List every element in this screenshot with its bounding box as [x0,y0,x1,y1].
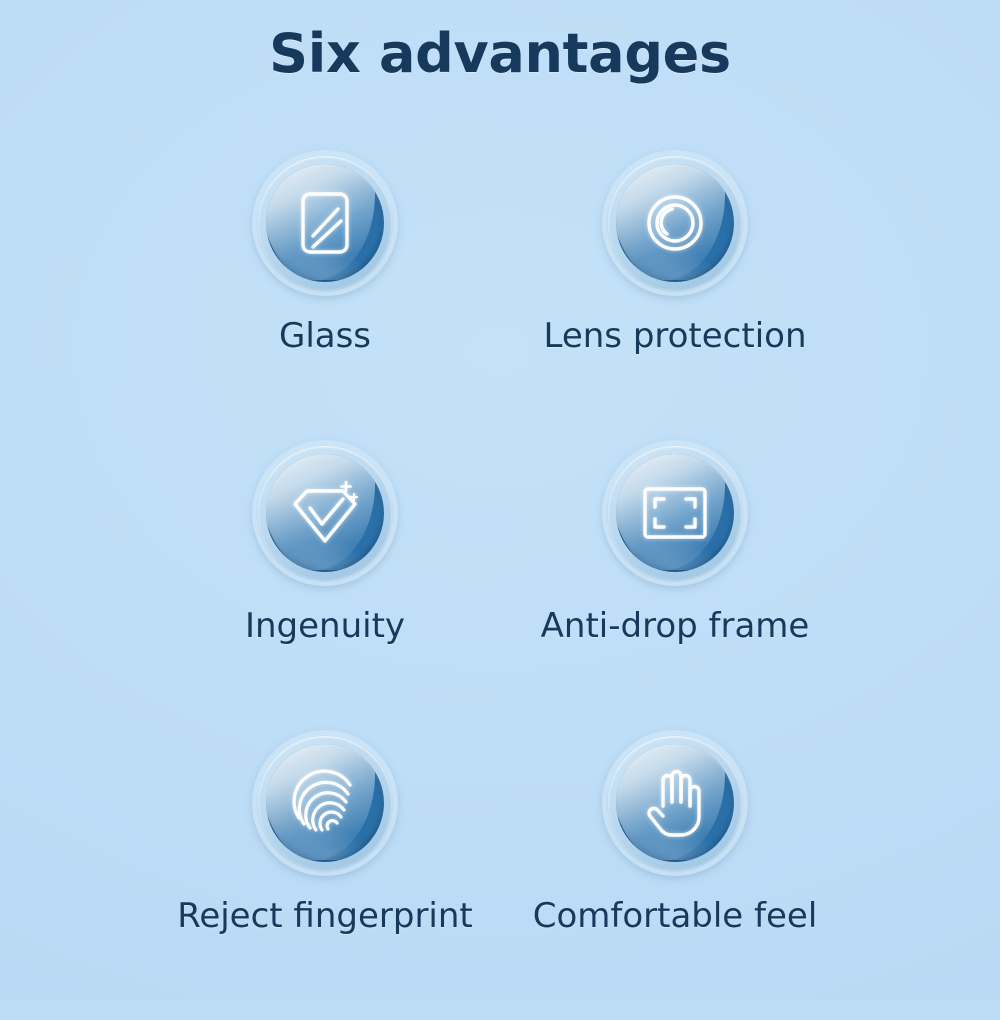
advantage-item-lens-protection[interactable]: Lens protection [500,150,850,440]
button-disc [616,744,734,862]
button-disc [266,744,384,862]
button-gloss [616,164,734,282]
button-disc [266,164,384,282]
advantage-icon-button[interactable] [602,440,748,586]
button-disc [616,454,734,572]
advantage-icon-button[interactable] [252,440,398,586]
advantage-item-comfortable-feel[interactable]: Comfortable feel [500,730,850,1020]
advantage-item-glass[interactable]: Glass [150,150,500,440]
button-gloss [266,744,384,862]
button-gloss [616,454,734,572]
advantage-icon-button[interactable] [252,730,398,876]
button-gloss [266,454,384,572]
advantage-label: Ingenuity [245,606,405,646]
advantage-item-reject-fingerprint[interactable]: Reject fingerprint [150,730,500,1020]
advantage-label: Comfortable feel [533,896,818,936]
button-gloss [266,164,384,282]
advantage-icon-button[interactable] [602,730,748,876]
advantage-icon-button[interactable] [252,150,398,296]
advantages-grid: Glass Lens protection [150,150,850,1020]
advantage-item-anti-drop-frame[interactable]: Anti-drop frame [500,440,850,730]
advantage-item-ingenuity[interactable]: Ingenuity [150,440,500,730]
advantage-label: Anti-drop frame [541,606,810,646]
button-gloss [616,744,734,862]
advantage-label: Glass [279,316,371,356]
advantage-icon-button[interactable] [602,150,748,296]
button-disc [616,164,734,282]
page-title: Six advantages [0,22,1000,85]
button-disc [266,454,384,572]
advantage-label: Reject fingerprint [177,896,473,936]
advantage-label: Lens protection [543,316,806,356]
